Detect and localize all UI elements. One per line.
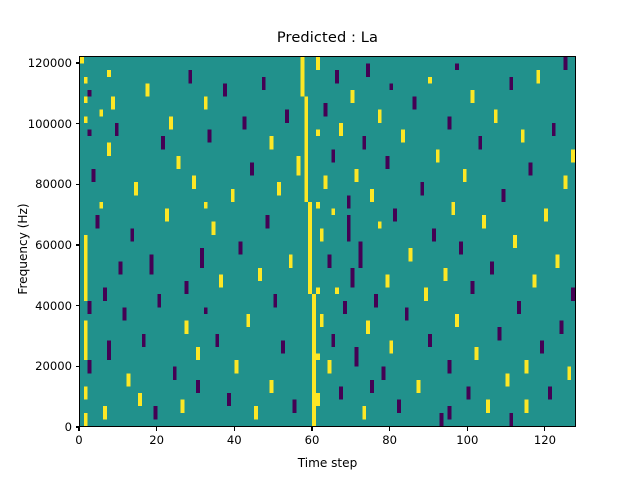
x-tick-label: 0 [75,433,82,447]
x-tick-label: 20 [149,433,164,447]
x-tick-label: 100 [456,433,478,447]
y-tick-label: 0 [0,420,72,434]
y-tick-mark [76,244,80,245]
y-tick-label: 120000 [0,56,72,70]
x-tick-mark [156,427,157,431]
x-tick-label: 60 [305,433,320,447]
x-tick-label: 40 [227,433,242,447]
x-tick-label: 80 [382,433,397,447]
x-axis-label: Time step [79,456,576,470]
y-tick-label: 40000 [0,299,72,313]
heatmap-image [80,57,575,426]
y-tick-mark [76,184,80,185]
y-tick-mark [76,123,80,124]
y-tick-label: 100000 [0,117,72,131]
x-tick-mark [78,427,79,431]
heatmap-plot-area [79,56,576,427]
y-tick-mark [76,62,80,63]
y-tick-mark [76,366,80,367]
x-tick-mark [234,427,235,431]
x-tick-mark [389,427,390,431]
y-tick-label: 60000 [0,238,72,252]
y-tick-label: 20000 [0,359,72,373]
y-tick-label: 80000 [0,177,72,191]
x-tick-label: 120 [534,433,556,447]
x-tick-mark [311,427,312,431]
page-title: Predicted : La [79,29,576,46]
x-tick-mark [467,427,468,431]
x-tick-mark [544,427,545,431]
matplotlib-figure: Predicted : La Time step Frequency (Hz) … [0,0,640,480]
y-tick-mark [76,305,80,306]
